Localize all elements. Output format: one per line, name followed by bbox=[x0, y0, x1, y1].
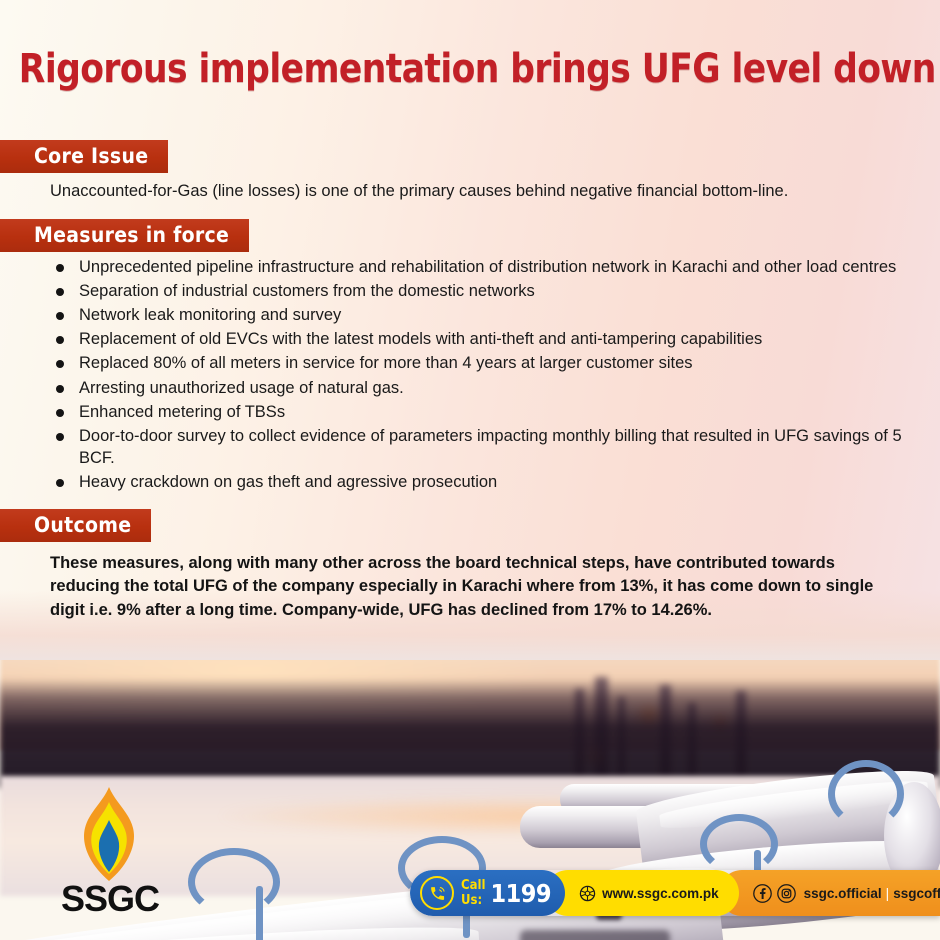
list-item: Unprecedented pipeline infrastructure an… bbox=[42, 256, 914, 278]
social-segment[interactable]: ssgc.official|ssgcofficial bbox=[719, 870, 940, 916]
social-handles: ssgc.official|ssgcofficial bbox=[804, 886, 940, 901]
section-badge-measures: Measures in force bbox=[0, 219, 249, 252]
ssgc-logo: SSGC bbox=[45, 786, 175, 918]
globe-icon bbox=[579, 885, 596, 902]
call-us-number: 1199 bbox=[490, 879, 551, 908]
measures-list: Unprecedented pipeline infrastructure an… bbox=[42, 256, 914, 495]
list-item: Enhanced metering of TBSs bbox=[42, 401, 914, 423]
facebook-handle: ssgc.official bbox=[804, 886, 882, 901]
social-separator: | bbox=[886, 886, 890, 901]
call-us-label: Call Us: bbox=[461, 878, 485, 908]
outcome-text: These measures, along with many other ac… bbox=[50, 552, 902, 622]
list-item: Network leak monitoring and survey bbox=[42, 304, 914, 326]
phone-icon bbox=[420, 876, 454, 910]
instagram-handle: ssgcofficial bbox=[893, 886, 940, 901]
website-segment[interactable]: www.ssgc.com.pk bbox=[545, 870, 739, 916]
section-badge-outcome: Outcome bbox=[0, 509, 151, 542]
logo-wordmark: SSGC bbox=[45, 878, 175, 920]
ssgc-ufg-infographic: Rigorous implementation brings UFG level… bbox=[0, 0, 940, 940]
facebook-icon[interactable] bbox=[753, 884, 772, 903]
list-item: Separation of industrial customers from … bbox=[42, 280, 914, 302]
flame-icon bbox=[73, 786, 145, 882]
phone-glyph bbox=[429, 885, 446, 902]
content-layer: Rigorous implementation brings UFG level… bbox=[0, 0, 940, 940]
list-item: Door-to-door survey to collect evidence … bbox=[42, 425, 914, 469]
list-item: Replaced 80% of all meters in service fo… bbox=[42, 352, 914, 374]
contact-footer-bar: Call Us: 1199 www.ssgc.com.pk bbox=[410, 870, 940, 916]
section-badge-core-issue: Core Issue bbox=[0, 140, 168, 173]
list-item: Replacement of old EVCs with the latest … bbox=[42, 328, 914, 350]
core-issue-text: Unaccounted-for-Gas (line losses) is one… bbox=[50, 180, 910, 202]
call-us-segment[interactable]: Call Us: 1199 bbox=[410, 870, 565, 916]
list-item: Heavy crackdown on gas theft and agressi… bbox=[42, 471, 914, 493]
list-item: Arresting unauthorized usage of natural … bbox=[42, 377, 914, 399]
page-title: Rigorous implementation brings UFG level… bbox=[19, 46, 921, 92]
website-url: www.ssgc.com.pk bbox=[602, 886, 719, 901]
instagram-icon[interactable] bbox=[777, 884, 796, 903]
